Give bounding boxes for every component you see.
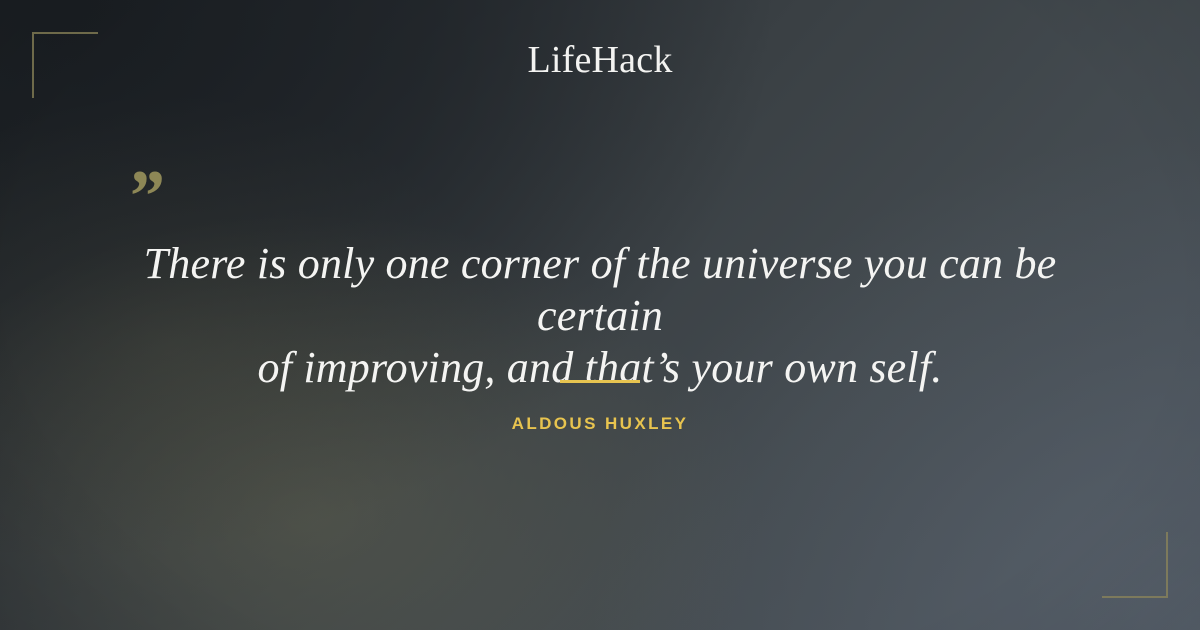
quote-card: LifeHack ” There is only one corner of t…	[0, 0, 1200, 630]
quote-text: There is only one corner of the universe…	[100, 238, 1100, 394]
quote-line-1: There is only one corner of the universe…	[144, 239, 1057, 340]
quotation-mark-icon: ”	[126, 160, 163, 234]
corner-bracket-bottom-right	[1102, 532, 1168, 598]
quote-line-2: of improving, and that’s your own self.	[258, 343, 943, 392]
quote-author: ALDOUS HUXLEY	[0, 414, 1200, 434]
divider-rule	[560, 380, 640, 383]
brand-logo: LifeHack	[0, 41, 1200, 79]
